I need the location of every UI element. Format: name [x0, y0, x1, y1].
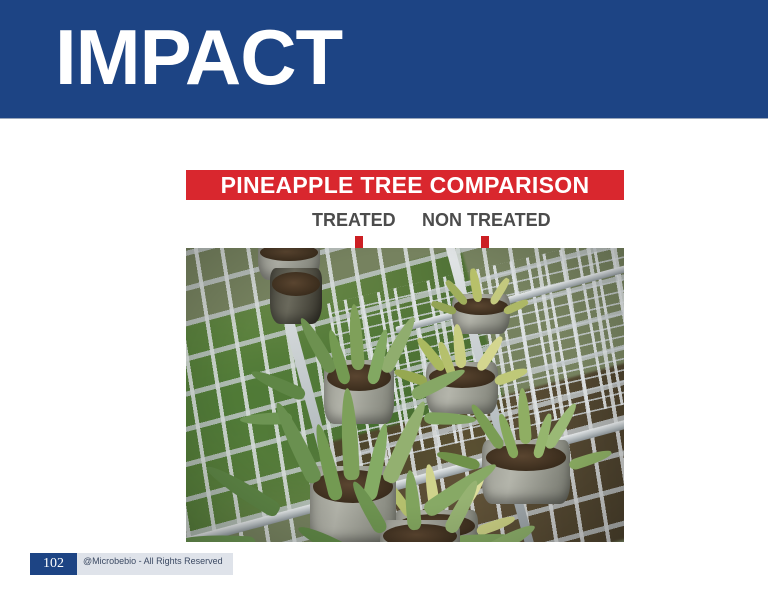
footer-copyright: @Microbebio - All Rights Reserved [83, 556, 223, 566]
figure-banner-label: PINEAPPLE TREE COMPARISON [221, 172, 590, 199]
page-number-badge: 102 [30, 553, 77, 575]
slide-canvas: IMPACT PINEAPPLE TREE COMPARISON TREATED… [0, 0, 768, 593]
treated-plant [320, 470, 510, 542]
caption-non-treated: NON TREATED [422, 210, 551, 231]
photo-canvas [186, 248, 624, 542]
slide-header-band: IMPACT [0, 0, 768, 118]
figure-caption-row: TREATED NON TREATED [186, 210, 624, 236]
comparison-photo [186, 248, 624, 542]
caption-treated: TREATED [312, 210, 396, 231]
comparison-figure: PINEAPPLE TREE COMPARISON TREATED NON TR… [186, 170, 624, 542]
page-title: IMPACT [55, 14, 342, 100]
figure-banner: PINEAPPLE TREE COMPARISON [186, 170, 624, 200]
